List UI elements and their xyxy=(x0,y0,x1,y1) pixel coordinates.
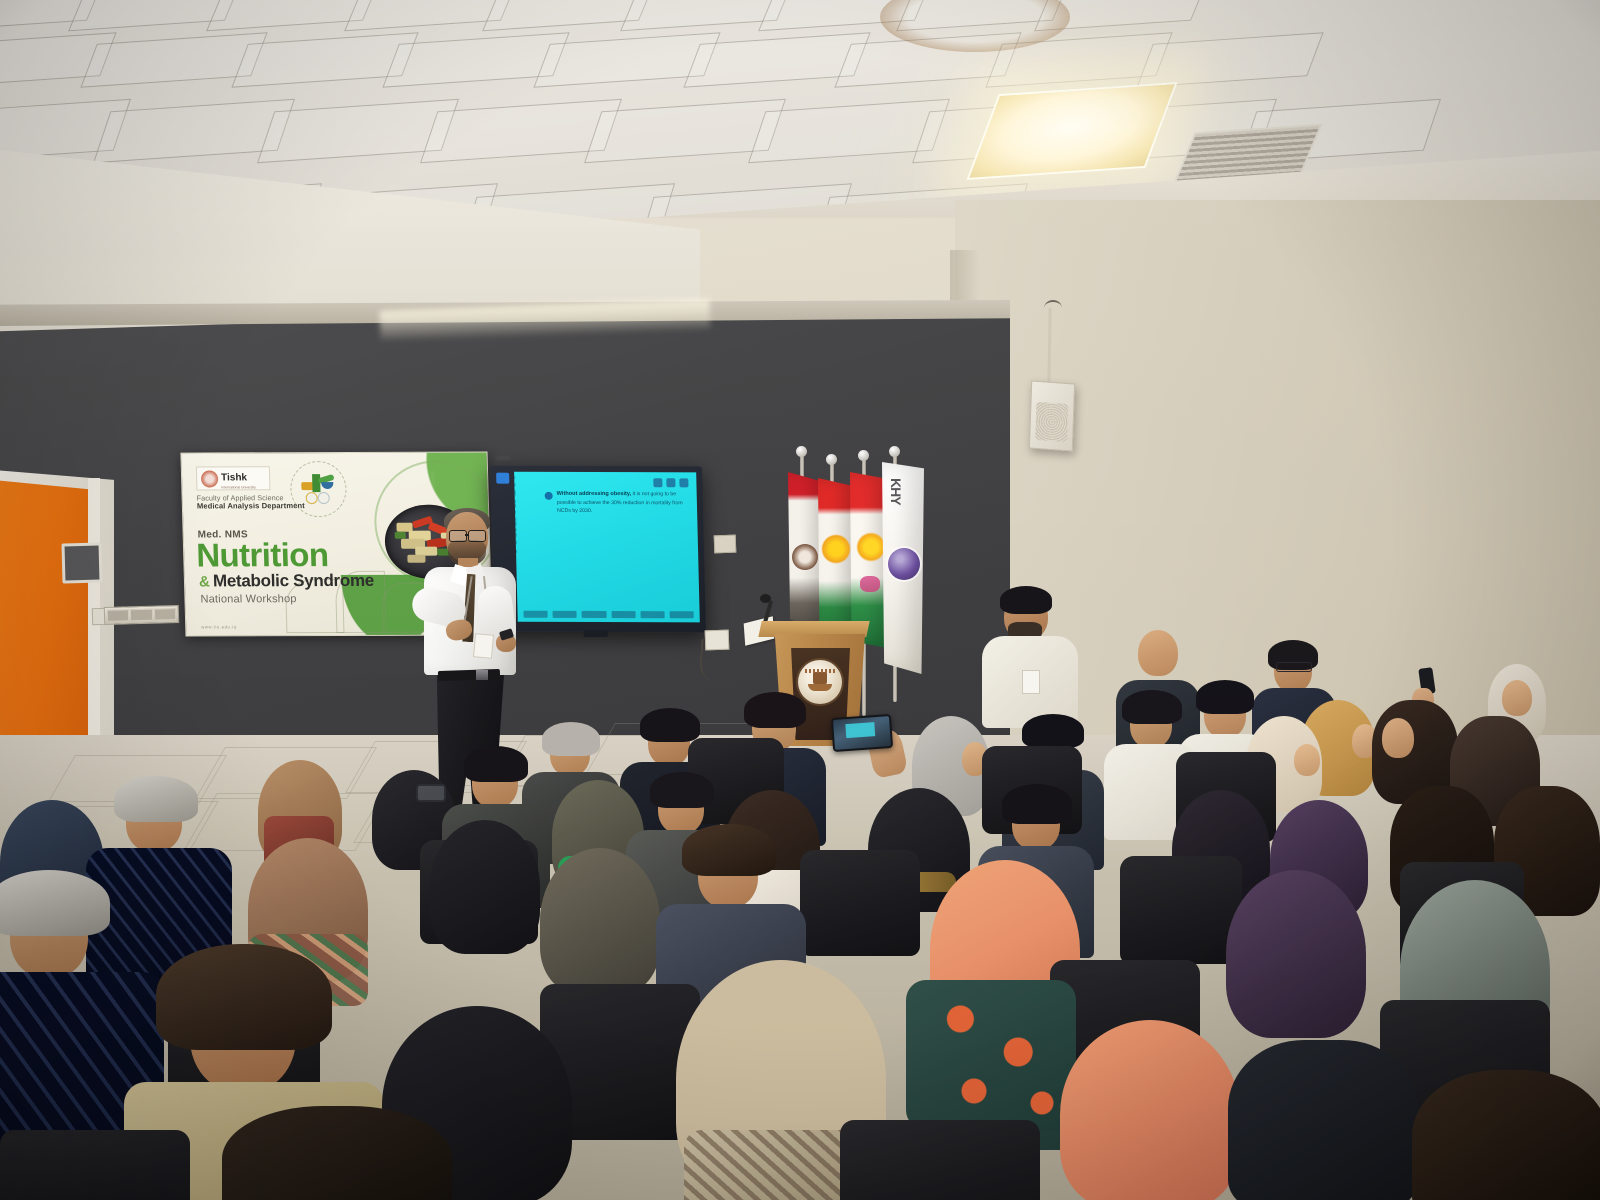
banner-org-name: Tishk xyxy=(221,472,247,483)
phone-screen xyxy=(833,716,891,750)
slide-top-logos xyxy=(653,478,688,487)
light-switch[interactable] xyxy=(107,609,130,622)
flagpole-finial xyxy=(796,446,807,457)
led-panel-light xyxy=(966,82,1177,180)
slide-lead-text: Without addressing obesity, xyxy=(557,491,632,497)
name-badge xyxy=(473,633,494,659)
who-logo-icon xyxy=(553,611,577,618)
light-switch[interactable] xyxy=(130,609,153,622)
partner-logo-icon xyxy=(611,611,635,618)
banner-title-workshop: National Workshop xyxy=(200,593,297,605)
wall-scuff xyxy=(365,462,379,467)
belt-buckle xyxy=(476,670,488,680)
wall-scuff xyxy=(240,600,245,630)
conference-hall-photo: Tishk International University Faculty o… xyxy=(0,0,1600,1200)
eyeglasses-icon xyxy=(449,530,467,542)
slide-bottom-logos xyxy=(523,611,693,619)
wall-scuff xyxy=(252,600,256,628)
flagpole-finial xyxy=(889,446,900,457)
presentation-slide: Nutrition Without addressing obesity, it… xyxy=(514,472,700,623)
nutrition-logo-icon xyxy=(523,611,547,618)
banner-url: www.tiu.edu.iq xyxy=(201,624,237,629)
auditorium-seat[interactable] xyxy=(0,1130,190,1200)
banner-department-line: Medical Analysis Department xyxy=(197,501,305,510)
who-logo-icon xyxy=(653,478,662,487)
university-logo-icon xyxy=(669,611,693,618)
banner-title-sub: Metabolic Syndrome xyxy=(213,571,374,592)
eyeglasses-bridge xyxy=(465,534,469,536)
display-stand xyxy=(584,630,609,637)
wall-junction-box xyxy=(714,535,737,554)
banner-title-main: Nutrition xyxy=(196,538,329,571)
display-status-icon xyxy=(496,473,509,484)
display-cable xyxy=(699,639,744,686)
slide-body-text: Without addressing obesity, it is not go… xyxy=(557,490,690,515)
banner-title-ampersand: & xyxy=(199,573,210,590)
flagpole-finial xyxy=(826,454,837,465)
recording-smartphone[interactable] xyxy=(831,714,893,752)
speaker-grille xyxy=(1035,402,1068,442)
light-switch-bank[interactable] xyxy=(104,605,179,625)
nutrition-logo-art xyxy=(299,472,338,506)
speaker-cable-bend xyxy=(1044,300,1062,316)
wall-scuff xyxy=(215,470,221,500)
auditorium-seat[interactable] xyxy=(840,1120,1040,1200)
university-flag: KHY xyxy=(882,462,924,674)
cdc-logo-icon xyxy=(582,611,606,618)
nutrition-workshop-logo xyxy=(290,461,348,517)
wall-scuff xyxy=(495,456,511,460)
eyeglasses-icon xyxy=(468,530,486,542)
partner-logo-icon xyxy=(666,478,675,487)
phone-camera-preview xyxy=(846,722,876,738)
iraq-flag xyxy=(788,472,822,632)
auditorium-seat[interactable] xyxy=(800,850,920,956)
banner-org-subtitle: International University xyxy=(221,486,256,490)
university-crest-icon xyxy=(798,660,842,704)
flagpole-finial xyxy=(858,450,869,461)
auditorium-seat[interactable] xyxy=(1120,856,1242,964)
wall-scuff xyxy=(430,470,435,496)
light-switch[interactable] xyxy=(153,608,176,621)
crest-art xyxy=(805,668,835,696)
slide-bullet-icon xyxy=(545,492,553,500)
pa-speaker xyxy=(1029,380,1075,451)
wall-access-plate xyxy=(61,542,102,583)
tishk-logo-box: Tishk International University xyxy=(196,466,271,490)
shield-logo-icon xyxy=(679,478,688,487)
microphone-head-icon xyxy=(760,594,771,603)
slide-vertical-title: Nutrition xyxy=(514,476,610,555)
partner-logo-icon xyxy=(640,611,664,618)
kurdistan-flag-1 xyxy=(818,478,854,644)
